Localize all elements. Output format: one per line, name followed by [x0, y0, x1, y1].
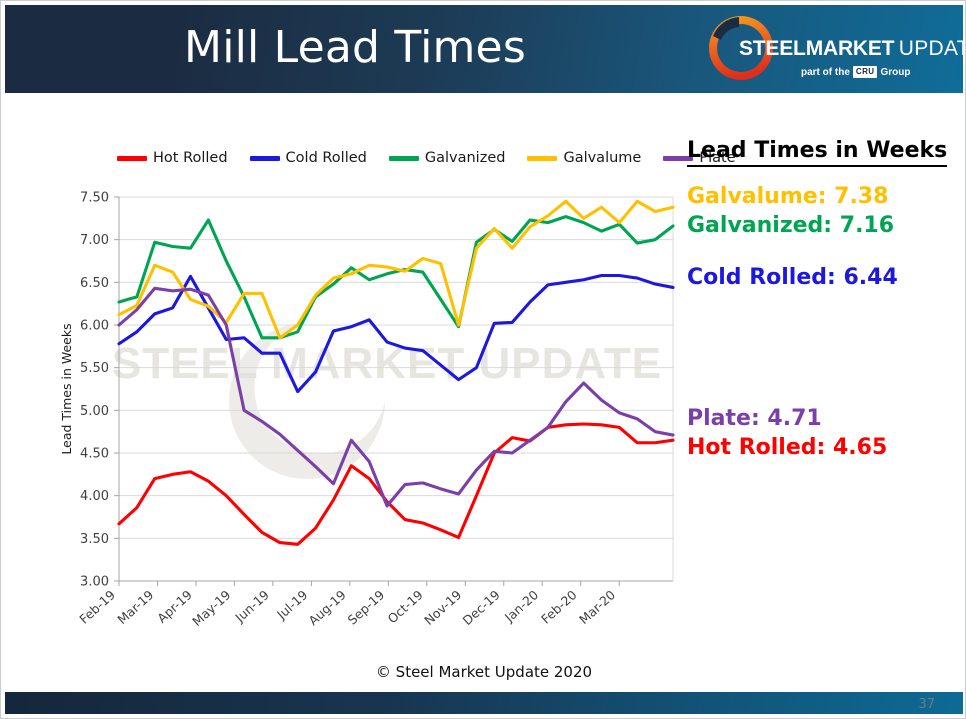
x-tick-label: Nov-19 — [421, 587, 464, 628]
y-axis-title: Lead Times in Weeks — [59, 323, 74, 454]
slide-header: Mill Lead Times STEELMARKET UPDATE part … — [5, 5, 963, 93]
y-tick-label: 5.50 — [80, 361, 109, 376]
y-tick-label: 6.00 — [80, 319, 109, 334]
x-tick-label: Oct-19 — [385, 587, 426, 626]
logo-tagline-suffix: Group — [880, 67, 910, 78]
x-tick-label: Jun-19 — [231, 587, 272, 626]
x-tick-label: Jan-20 — [501, 587, 541, 625]
legend-swatch-icon — [117, 156, 147, 161]
legend-swatch-icon — [389, 156, 419, 161]
y-tick-label: 6.50 — [80, 276, 109, 291]
chart-container: Hot RolledCold RolledGalvanizedGalvalume… — [57, 133, 687, 643]
slide-footer-bar — [5, 692, 963, 714]
logo-tagline: part of the CRU Group — [801, 64, 943, 80]
svg-text:STEEL MARKET UPDATE: STEEL MARKET UPDATE — [112, 339, 662, 388]
legend-item-hot-rolled[interactable]: Hot Rolled — [117, 150, 228, 166]
x-tick-label: Mar-19 — [114, 587, 156, 627]
watermark: STEEL MARKET UPDATE — [112, 323, 662, 479]
y-tick-label: 7.00 — [80, 233, 109, 248]
y-tick-label: 4.00 — [80, 489, 109, 504]
logo-word-market: MARKET — [806, 37, 895, 60]
legend-item-cold-rolled[interactable]: Cold Rolled — [250, 150, 367, 166]
legend-label: Galvanized — [425, 150, 506, 166]
logo-word-steel: STEEL — [739, 37, 806, 60]
y-tick-label: 4.50 — [80, 447, 109, 462]
legend-swatch-icon — [527, 156, 557, 161]
summary-row-hot-rolled: Hot Rolled: 4.65 — [687, 433, 955, 462]
y-tick-label: 3.50 — [80, 532, 109, 547]
x-tick-label: Sep-19 — [345, 587, 388, 628]
series-line-hot-rolled — [119, 424, 673, 544]
logo-wordmark: STEELMARKET UPDATE — [739, 37, 939, 63]
logo-word-update: UPDATE — [899, 37, 963, 60]
line-chart-svg: STEEL MARKET UPDATE3.003.504.004.505.005… — [57, 173, 687, 643]
summary-row-plate: Plate: 4.71 — [687, 404, 955, 433]
legend-swatch-icon — [250, 156, 280, 161]
x-tick-label: Mar-20 — [576, 587, 618, 627]
x-tick-label: Feb-19 — [76, 587, 118, 627]
legend-label: Galvalume — [563, 150, 641, 166]
copyright-text: © Steel Market Update 2020 — [1, 663, 966, 681]
logo-tagline-prefix: part of the — [801, 67, 850, 78]
lead-times-summary-panel: Lead Times in Weeks Galvalume: 7.38 Galv… — [687, 137, 955, 497]
x-tick-label: Feb-20 — [538, 587, 580, 627]
x-tick-label: Aug-19 — [306, 587, 349, 628]
series-line-plate — [119, 288, 673, 506]
x-tick-label: Dec-19 — [460, 587, 503, 628]
chart-legend: Hot RolledCold RolledGalvanizedGalvalume… — [117, 147, 677, 169]
summary-row-cold-rolled: Cold Rolled: 6.44 — [687, 263, 955, 292]
legend-label: Hot Rolled — [153, 150, 228, 166]
legend-item-galvalume[interactable]: Galvalume — [527, 150, 641, 166]
page-title: Mill Lead Times — [5, 19, 705, 77]
page-number: 37 — [918, 697, 935, 712]
x-tick-label: May-19 — [189, 587, 233, 629]
chart-plot-area: STEEL MARKET UPDATE3.003.504.004.505.005… — [57, 173, 687, 643]
y-tick-label: 3.00 — [80, 575, 109, 590]
legend-item-galvanized[interactable]: Galvanized — [389, 150, 506, 166]
legend-label: Cold Rolled — [286, 150, 367, 166]
panel-title: Lead Times in Weeks — [687, 137, 947, 167]
slide-root: Mill Lead Times STEELMARKET UPDATE part … — [0, 0, 966, 719]
cru-badge: CRU — [853, 66, 878, 78]
summary-row-galvanized: Galvanized: 7.16 — [687, 211, 955, 240]
y-tick-label: 7.50 — [80, 191, 109, 206]
x-tick-label: Apr-19 — [154, 587, 195, 626]
steel-market-update-logo: STEELMARKET UPDATE part of the CRU Group — [695, 13, 941, 87]
summary-row-galvalume: Galvalume: 7.38 — [687, 182, 955, 211]
series-line-galvalume — [119, 201, 673, 338]
y-tick-label: 5.00 — [80, 404, 109, 419]
